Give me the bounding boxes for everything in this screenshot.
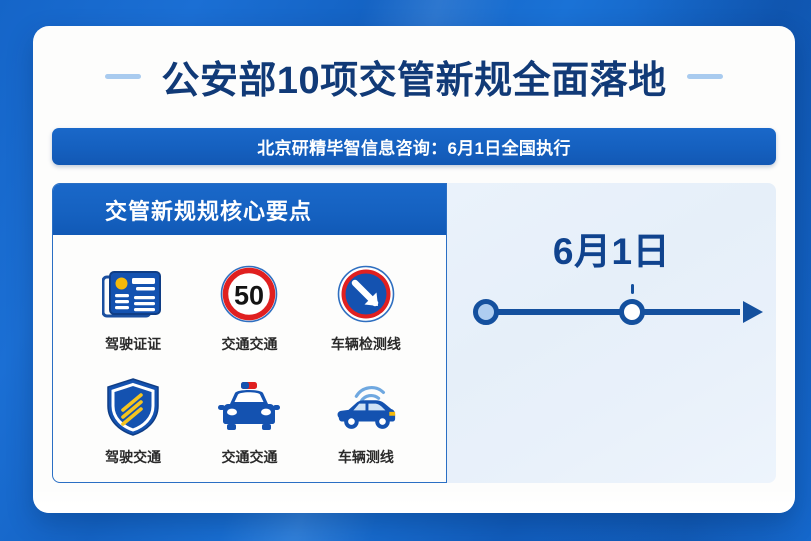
police-car-front-icon (216, 374, 282, 440)
speed-limit-value: 50 (234, 281, 264, 311)
title-dash-right-icon (687, 74, 723, 79)
drivers-license-icon (100, 261, 166, 327)
icon-label: 驾驶证证 (105, 334, 161, 354)
blue-diagonal-arrow-sign-icon (333, 261, 399, 327)
icon-cell[interactable]: 50 交通交通 (193, 261, 305, 354)
timeline-panel: 6月1日 (447, 183, 776, 483)
timeline-start-dot-icon[interactable] (473, 299, 499, 325)
icon-label: 车辆检测线 (331, 334, 401, 354)
timeline-date-label: 6月1日 (447, 221, 776, 275)
key-points-panel-title: 交管新规规核心要点 (105, 194, 312, 226)
icon-cell[interactable]: 车辆测线 (310, 374, 422, 467)
icon-label: 交通交通 (221, 447, 277, 467)
icon-label: 交通交通 (221, 334, 277, 354)
timeline-tick-icon (631, 284, 634, 294)
timeline-event-dot-icon[interactable] (619, 299, 645, 325)
timeline-arrow-icon (743, 301, 763, 323)
poster-canvas: 公安部10项交管新规全面落地 北京研精毕智信息咨询：6月1日全国执行 交管新规规… (0, 0, 811, 541)
key-points-panel: 交管新规规核心要点 (52, 183, 447, 483)
title-row: 公安部10项交管新规全面落地 (33, 48, 795, 104)
connected-car-signal-icon (333, 374, 399, 440)
main-card: 公安部10项交管新规全面落地 北京研精毕智信息咨询：6月1日全国执行 交管新规规… (33, 26, 795, 513)
title-dash-left-icon (105, 74, 141, 79)
speed-limit-50-sign-icon: 50 (216, 261, 282, 327)
timeline-line (487, 309, 740, 315)
icon-cell[interactable]: 驾驶证证 (77, 261, 189, 354)
icon-cell[interactable]: 驾驶交通 (77, 374, 189, 467)
shield-stripes-icon (100, 374, 166, 440)
icon-grid: 驾驶证证 50 交通交通 (53, 235, 446, 467)
page-title: 公安部10项交管新规全面落地 (161, 49, 666, 104)
icon-cell[interactable]: 车辆检测线 (310, 261, 422, 354)
content-area: 交管新规规核心要点 (52, 183, 776, 483)
subtitle-bar: 北京研精毕智信息咨询：6月1日全国执行 (52, 128, 776, 165)
icon-label: 驾驶交通 (105, 447, 161, 467)
subtitle-text: 北京研精毕智信息咨询：6月1日全国执行 (257, 134, 571, 159)
key-points-panel-header: 交管新规规核心要点 (53, 184, 446, 235)
timeline (471, 295, 761, 329)
icon-label: 车辆测线 (338, 447, 394, 467)
icon-cell[interactable]: 交通交通 (193, 374, 305, 467)
